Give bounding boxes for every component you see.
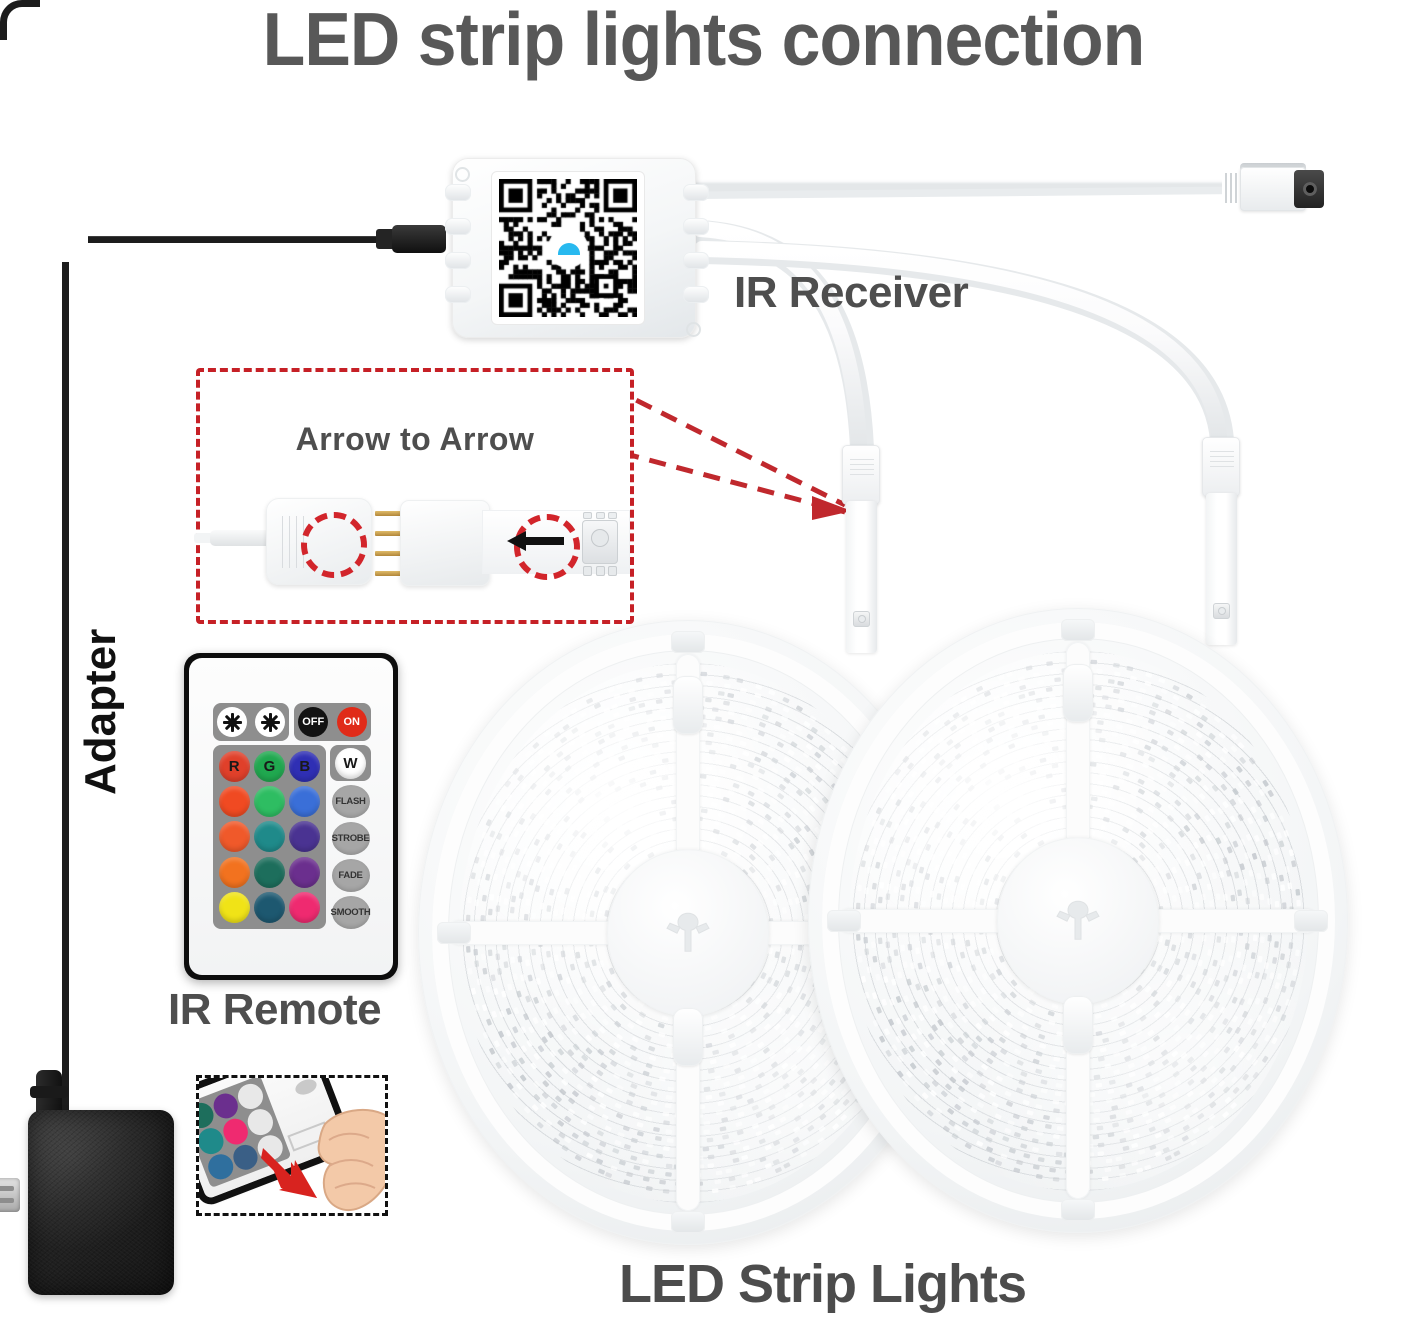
mode-button-smooth[interactable]: SMOOTH xyxy=(332,896,370,929)
inset-strip-plug xyxy=(400,500,490,586)
diagram-canvas: LED strip lights connection xyxy=(0,0,1407,1330)
adapter-plug-prongs xyxy=(0,1178,20,1212)
controller-fin-left-2 xyxy=(445,218,471,235)
ir-receiver-label: IR Receiver xyxy=(734,268,968,318)
color-cell xyxy=(217,820,251,854)
color-cell xyxy=(252,820,286,854)
color-cell xyxy=(252,784,286,818)
ir-remote[interactable]: OFF ON RGB W FLASHSTROBEFADESMOOTH xyxy=(184,653,398,980)
controller-fin-left-3 xyxy=(445,252,471,269)
direction-arrow-icon xyxy=(506,530,564,552)
color-button-9[interactable] xyxy=(289,821,320,852)
remote-mode-column: FLASHSTROBEFADESMOOTH xyxy=(330,785,371,929)
white-button[interactable]: W xyxy=(335,748,366,779)
color-cell xyxy=(217,784,251,818)
controller-screw-hole-top xyxy=(455,167,470,182)
adapter-dc-plug xyxy=(392,225,446,253)
hub-star-icon xyxy=(660,908,716,958)
controller-fin-right-1 xyxy=(683,184,709,201)
reel-notch-2 xyxy=(1294,910,1328,932)
brightness-up-button[interactable] xyxy=(217,707,247,737)
inset-color-dot-6 xyxy=(244,1106,276,1138)
reel-clip-1 xyxy=(1063,664,1093,722)
inset-cable xyxy=(210,530,274,546)
inset-color-dot-3 xyxy=(235,1080,267,1112)
remote-top-row: OFF ON xyxy=(213,703,371,741)
mode-button-strobe[interactable]: STROBE xyxy=(332,822,370,855)
connector-ribs-right xyxy=(1210,451,1234,467)
inset-strip-led xyxy=(582,520,618,564)
on-button[interactable]: ON xyxy=(337,707,367,737)
color-button-7[interactable] xyxy=(219,821,250,852)
reel-notch-4 xyxy=(1061,619,1095,641)
dc-jack-hole xyxy=(1303,182,1317,196)
brightness-down-button[interactable] xyxy=(255,707,285,737)
led-strip-lights-label: LED Strip Lights xyxy=(619,1253,1026,1315)
dc-barrel-jack xyxy=(1232,163,1324,213)
arrow-marker-circle-left xyxy=(301,512,367,578)
adapter-cable-horizontal xyxy=(88,236,418,243)
color-button-8[interactable] xyxy=(254,821,285,852)
color-cell xyxy=(288,784,322,818)
mode-button-fade[interactable]: FADE xyxy=(332,859,370,892)
dc-jack-socket xyxy=(1294,170,1324,208)
sun-up-icon xyxy=(223,713,242,732)
inset-strip-pads-top xyxy=(583,512,617,520)
color-button-11[interactable] xyxy=(254,857,285,888)
controller-fin-right-3 xyxy=(683,252,709,269)
controller-fin-left-4 xyxy=(445,286,471,303)
reel-notch-3 xyxy=(671,1211,705,1233)
connector-plug-right xyxy=(1202,437,1240,497)
color-button-2[interactable]: G xyxy=(254,751,285,782)
app-logo-icon xyxy=(552,232,586,266)
reel-clip-1 xyxy=(673,676,703,734)
remote-power-pad: OFF ON xyxy=(294,703,371,741)
inset-strip-pads-bottom xyxy=(583,566,617,577)
off-button[interactable]: OFF xyxy=(298,707,328,737)
color-cell xyxy=(288,855,322,889)
color-cell xyxy=(217,855,251,889)
reel-notch-3 xyxy=(1061,1199,1095,1221)
reel-notch-1 xyxy=(437,922,471,944)
hub-star-icon xyxy=(1050,896,1106,946)
remote-color-grid: RGB xyxy=(213,745,326,929)
remote-brightness-pad xyxy=(213,703,289,741)
color-button-4[interactable] xyxy=(219,786,250,817)
controller-fin-right-2 xyxy=(683,218,709,235)
remote-white-pad: W xyxy=(330,745,371,781)
inset-color-dot-7 xyxy=(204,1150,236,1182)
color-button-15[interactable] xyxy=(289,892,320,923)
color-cell xyxy=(252,855,286,889)
color-button-1[interactable]: R xyxy=(219,751,250,782)
pull-direction-arrow-icon xyxy=(259,1146,321,1202)
reel-hub xyxy=(607,849,769,1017)
reel-notch-1 xyxy=(827,910,861,932)
color-cell: B xyxy=(288,749,322,783)
color-button-10[interactable] xyxy=(219,857,250,888)
color-cell: G xyxy=(252,749,286,783)
color-button-3[interactable]: B xyxy=(289,751,320,782)
battery-tab-pull-inset xyxy=(196,1075,388,1216)
mode-button-flash[interactable]: FLASH xyxy=(332,785,370,818)
reel-clip-2 xyxy=(673,1008,703,1066)
led-strip-reel-right xyxy=(808,608,1348,1233)
adapter-strain-ring xyxy=(30,1086,68,1098)
reel-notch-4 xyxy=(671,631,705,653)
color-cell: R xyxy=(217,749,251,783)
reel-clip-2 xyxy=(1063,996,1093,1054)
arrow-to-arrow-title: Arrow to Arrow xyxy=(200,421,630,458)
arrow-to-arrow-inset: Arrow to Arrow xyxy=(196,368,634,624)
color-button-14[interactable] xyxy=(254,892,285,923)
sun-down-icon xyxy=(261,713,280,732)
color-cell xyxy=(217,891,251,925)
adapter-cable-vertical xyxy=(62,262,69,1112)
connector-ribs-left xyxy=(850,459,874,475)
reel-hub xyxy=(997,837,1159,1005)
adapter-texture xyxy=(28,1110,174,1295)
color-button-13[interactable] xyxy=(219,892,250,923)
color-cell xyxy=(288,820,322,854)
controller-fin-left-1 xyxy=(445,184,471,201)
ir-remote-label: IR Remote xyxy=(168,985,381,1035)
connector-plug-left xyxy=(842,445,880,505)
color-cell xyxy=(288,891,322,925)
power-adapter-brick xyxy=(28,1110,174,1295)
color-button-5[interactable] xyxy=(254,786,285,817)
color-button-12[interactable] xyxy=(289,857,320,888)
color-button-6[interactable] xyxy=(289,786,320,817)
adapter-label: Adapter xyxy=(76,629,126,795)
controller-screw-hole-bottom xyxy=(686,322,701,337)
controller-fin-right-4 xyxy=(683,286,709,303)
color-cell xyxy=(252,891,286,925)
